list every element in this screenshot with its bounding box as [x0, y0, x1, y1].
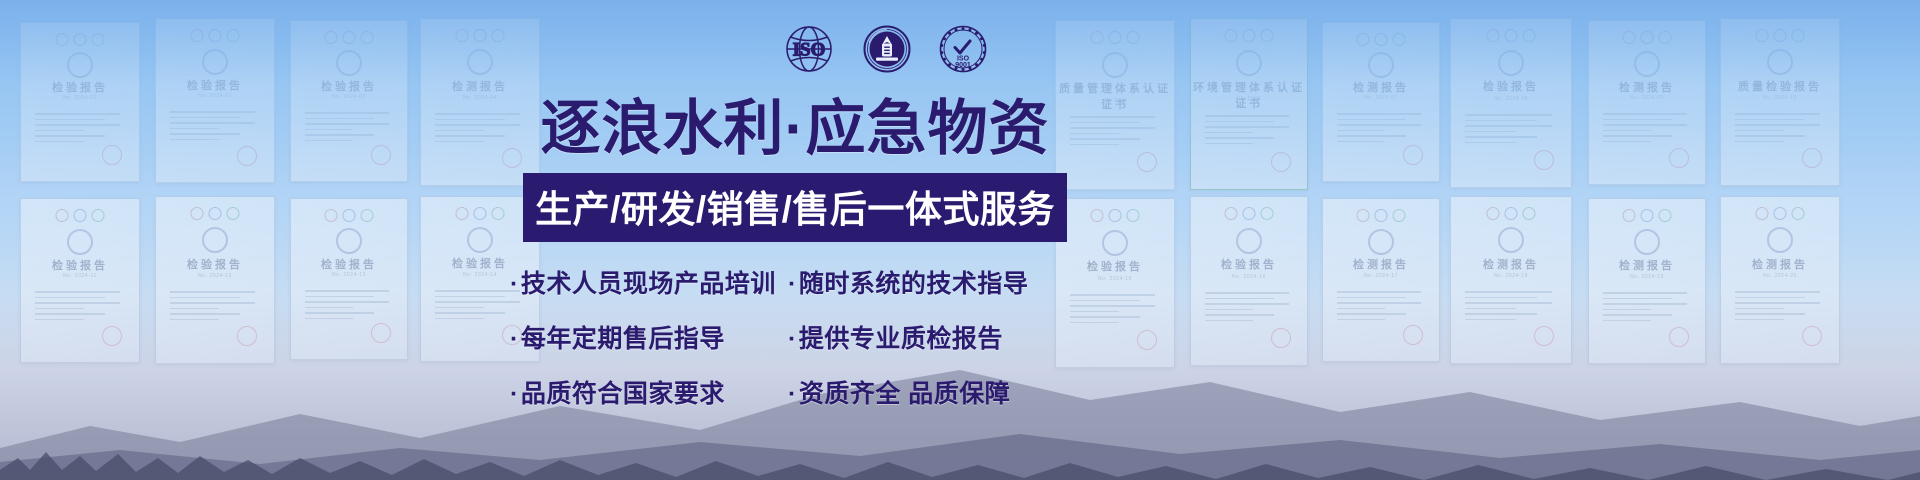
- bullet-dot-icon: ·: [788, 325, 797, 353]
- certificate-text-lines: [1337, 113, 1425, 146]
- certificate-red-stamp-icon: [237, 146, 257, 166]
- certificate-seal-row: [1623, 31, 1672, 44]
- certificate-thumbnail: 检验报告No. 2024-01: [20, 22, 140, 182]
- feature-bullet: ·品质符合国家要求: [510, 374, 788, 410]
- banner-subtitle-bar: 生产/研发/销售/售后一体式服务: [523, 173, 1067, 242]
- certificate-number: No. 2024-09: [1589, 95, 1705, 101]
- certificate-seal-row: [325, 31, 374, 44]
- certificate-title: 检验报告: [1191, 256, 1307, 272]
- certificate-title: 检验报告: [156, 77, 274, 93]
- bullet-label: 资质齐全 品质保障: [799, 380, 1010, 408]
- bullet-label: 品质符合国家要求: [521, 380, 725, 408]
- certificate-thumbnail: 检验报告No. 2024-03: [290, 20, 408, 182]
- certificate-text-lines: [1070, 116, 1160, 149]
- certificate-emblem-icon: [1102, 230, 1128, 256]
- certificate-text-lines: [1603, 292, 1691, 325]
- certificate-title: 检验报告: [156, 256, 274, 272]
- bullet-dot-icon: ·: [788, 380, 797, 408]
- certificate-text-lines: [1465, 291, 1556, 324]
- certificate-number: No. 2024-18: [1451, 273, 1571, 279]
- certificate-number: No. 2024-01: [21, 95, 139, 101]
- feature-bullets: ·技术人员现场产品培训·随时系统的技术指导·每年定期售后指导·提供专业质检报告·…: [510, 264, 1080, 410]
- bullet-dot-icon: ·: [510, 380, 519, 408]
- certificate-seal-row: [1091, 209, 1140, 222]
- certificate-thumbnail: 检测报告No. 2024-07: [1322, 22, 1440, 182]
- certificate-seal-row: [1756, 29, 1805, 42]
- certificate-number: No. 2024-12: [156, 273, 274, 279]
- certificate-number: No. 2024-08: [1451, 96, 1571, 102]
- feature-bullet: ·资质齐全 品质保障: [788, 374, 1050, 410]
- feature-bullet: ·提供专业质检报告: [788, 319, 1050, 355]
- certificate-text-lines: [1337, 291, 1425, 324]
- certificate-red-stamp-icon: [1137, 152, 1157, 172]
- promo-banner: 检验报告No. 2024-01检验报告No. 2024-02检验报告No. 20…: [0, 0, 1920, 480]
- certification-badges: ISO: [510, 18, 1080, 80]
- bullet-label: 每年定期售后指导: [521, 325, 725, 353]
- certificate-number: No. 2024-02: [156, 93, 274, 99]
- certificate-text-lines: [1603, 113, 1691, 146]
- certificate-emblem-icon: [336, 228, 362, 254]
- svg-text:ISO: ISO: [793, 40, 826, 61]
- feature-bullet: ·随时系统的技术指导: [788, 264, 1050, 300]
- certificate-text-lines: [305, 112, 393, 145]
- certificate-seal-row: [1623, 209, 1672, 222]
- feature-bullet: ·每年定期售后指导: [510, 319, 788, 355]
- bullet-label: 提供专业质检报告: [799, 325, 1003, 353]
- certificate-title: 检验报告: [21, 79, 139, 95]
- bullet-dot-icon: ·: [510, 270, 519, 298]
- certificate-title: 环境管理体系认证证书: [1191, 79, 1307, 111]
- certificate-number: No. 2024-07: [1323, 95, 1439, 101]
- certificate-emblem-icon: [1102, 52, 1128, 78]
- certificate-title: 检测报告: [1589, 257, 1705, 273]
- certificate-seal-row: [56, 209, 105, 222]
- certificate-emblem-icon: [1368, 52, 1394, 78]
- certificate-text-lines: [170, 291, 260, 324]
- certificate-emblem-icon: [1767, 227, 1793, 253]
- certificate-seal-row: [56, 33, 105, 46]
- certificate-red-stamp-icon: [1802, 148, 1822, 168]
- certificate-seal-row: [1487, 207, 1536, 220]
- feature-bullet: ·技术人员现场产品培训: [510, 264, 788, 300]
- certificate-number: No. 2024-13: [291, 272, 407, 278]
- certificate-red-stamp-icon: [1534, 150, 1554, 170]
- iso-globe-badge: ISO: [780, 24, 838, 74]
- certificate-title: 检验报告: [1451, 78, 1571, 94]
- certificate-emblem-icon: [1767, 49, 1793, 75]
- certificate-seal-row: [1756, 207, 1805, 220]
- certificate-seal-row: [456, 207, 505, 220]
- certificate-red-stamp-icon: [1271, 152, 1291, 172]
- certificate-seal-row: [191, 29, 240, 42]
- certificate-thumbnail: 环境管理体系认证证书CN-2024: [1190, 18, 1308, 190]
- certificate-emblem-icon: [1634, 51, 1660, 77]
- certificate-emblem-icon: [202, 49, 228, 75]
- certificate-emblem-icon: [1236, 50, 1262, 76]
- certificate-number: No. 2024-10: [1721, 95, 1839, 101]
- certificate-emblem-icon: [67, 52, 93, 78]
- certificate-text-lines: [1205, 115, 1293, 148]
- certificate-title: 检测报告: [1323, 79, 1439, 95]
- certificate-seal-row: [325, 209, 374, 222]
- certificate-text-lines: [1070, 294, 1160, 327]
- certificate-number: No. 2024-20: [1721, 273, 1839, 279]
- certificate-seal-row: [1357, 33, 1406, 46]
- bullet-dot-icon: ·: [788, 270, 797, 298]
- certificate-emblem-icon: [1498, 50, 1524, 76]
- certificate-seal-row: [456, 29, 505, 42]
- certificate-number: No. 2024-19: [1589, 274, 1705, 280]
- certificate-seal-row: [1487, 29, 1536, 42]
- certificate-title: 检测报告: [1721, 256, 1839, 272]
- certificate-emblem-icon: [202, 227, 228, 253]
- certificate-number: No. 2024-16: [1191, 274, 1307, 280]
- certificate-title: 检测报告: [1323, 256, 1439, 272]
- certificate-seal-row: [191, 207, 240, 220]
- certificate-red-stamp-icon: [371, 145, 391, 165]
- certificate-seal-row: [1225, 207, 1274, 220]
- certificate-number: CN-2024: [1191, 96, 1307, 102]
- certificate-red-stamp-icon: [1403, 145, 1423, 165]
- certificate-title: 检验报告: [291, 256, 407, 272]
- certificate-thumbnail: 检验报告No. 2024-02: [155, 18, 275, 183]
- svg-text:9001: 9001: [955, 62, 971, 69]
- certificate-number: No. 2024-03: [291, 94, 407, 100]
- certificate-title: 检验报告: [21, 257, 139, 273]
- quality-inspection-badge: [860, 24, 914, 74]
- certificate-thumbnail: 检验报告No. 2024-08: [1450, 18, 1572, 188]
- certificate-title: 检测报告: [1451, 256, 1571, 272]
- certificate-emblem-icon: [467, 49, 493, 75]
- certificate-text-lines: [1735, 291, 1825, 324]
- banner-content: ISO: [510, 18, 1080, 462]
- bullet-label: 技术人员现场产品培训: [521, 270, 776, 298]
- bullet-label: 随时系统的技术指导: [799, 270, 1029, 298]
- certificate-thumbnail: 检测报告No. 2024-09: [1588, 20, 1706, 185]
- certificate-emblem-icon: [1368, 229, 1394, 255]
- certificate-text-lines: [170, 111, 260, 144]
- banner-title: 逐浪水利·应急物资: [510, 98, 1080, 159]
- certificate-title: 检测报告: [1589, 79, 1705, 95]
- certificate-text-lines: [35, 291, 125, 324]
- certificate-title: 质量检验报告: [1721, 78, 1839, 94]
- certificate-seal-row: [1225, 29, 1274, 42]
- certificate-seal-row: [1357, 209, 1406, 222]
- certificate-seal-row: [1091, 31, 1140, 44]
- certificate-text-lines: [1465, 114, 1556, 147]
- certificate-emblem-icon: [1634, 229, 1660, 255]
- bullet-dot-icon: ·: [510, 325, 519, 353]
- certificate-title: 检验报告: [291, 78, 407, 94]
- certificate-thumbnail: 质量检验报告No. 2024-10: [1720, 18, 1840, 186]
- certificate-number: No. 2024-11: [21, 273, 139, 279]
- certificate-red-stamp-icon: [102, 145, 122, 165]
- certificate-emblem-icon: [1236, 228, 1262, 254]
- certificate-text-lines: [1735, 113, 1825, 146]
- certificate-text-lines: [1205, 292, 1293, 325]
- certificate-text-lines: [35, 113, 125, 146]
- iso-9001-badge: ISO 9001: [936, 24, 990, 74]
- certificate-emblem-icon: [467, 227, 493, 253]
- certificate-red-stamp-icon: [1669, 148, 1689, 168]
- certificate-emblem-icon: [67, 229, 93, 255]
- certificate-emblem-icon: [336, 50, 362, 76]
- certificate-emblem-icon: [1498, 227, 1524, 253]
- certificate-number: No. 2024-17: [1323, 273, 1439, 279]
- certificate-text-lines: [305, 290, 393, 323]
